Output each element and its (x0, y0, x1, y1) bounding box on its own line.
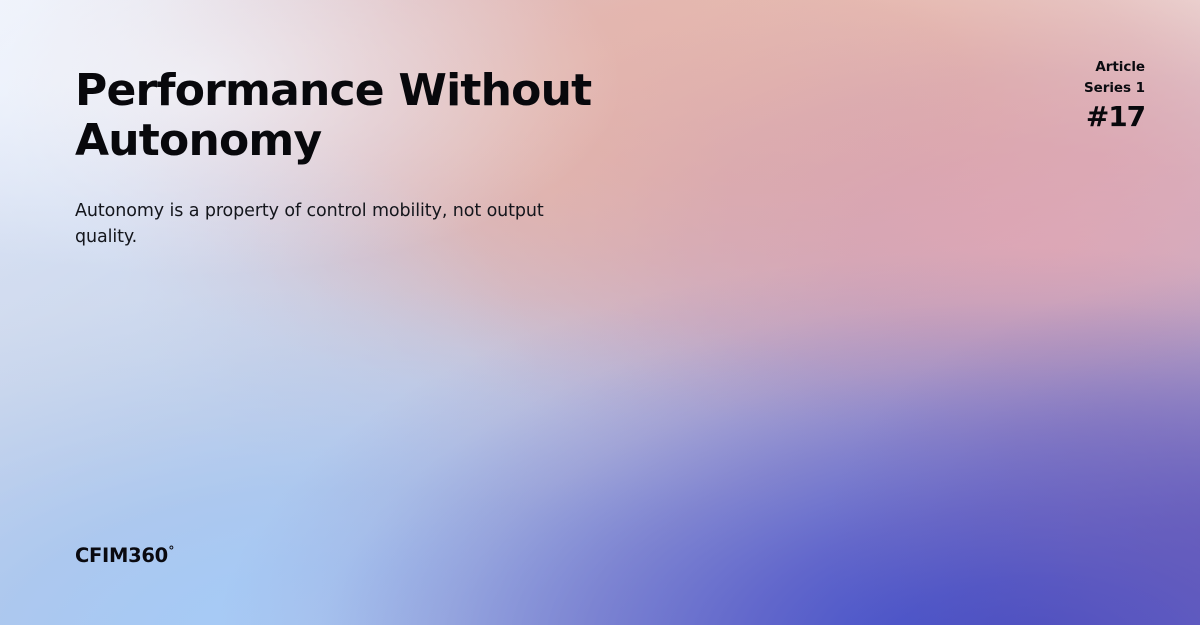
subtitle: Autonomy is a property of control mobili… (75, 199, 585, 250)
article-series-label: Article Series 1 (1084, 57, 1145, 98)
article-meta: Article Series 1 #17 (1084, 57, 1145, 131)
headline-block: Performance Without Autonomy (75, 66, 635, 166)
page-title: Performance Without Autonomy (75, 66, 635, 166)
article-number: #17 (1084, 102, 1145, 131)
brand-name: CFIM360 (75, 544, 168, 567)
article-cover-card: Performance Without Autonomy Autonomy is… (0, 0, 1200, 625)
degree-icon: ° (168, 545, 174, 557)
card-content: Performance Without Autonomy Autonomy is… (0, 0, 1200, 625)
brand-logo: CFIM360 ° (75, 544, 174, 567)
